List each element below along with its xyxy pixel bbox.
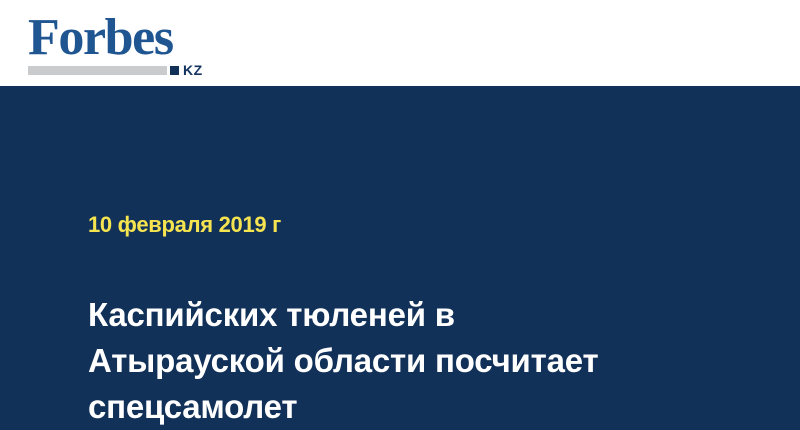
- headline-line: Каспийских тюленей в: [88, 292, 708, 338]
- article-body: 10 февраля 2019 г Каспийских тюленей в А…: [0, 86, 800, 419]
- logo-country-code: KZ: [183, 63, 203, 77]
- logo-wordmark: Forbes: [28, 12, 173, 64]
- headline-line: спецсамолет: [88, 384, 708, 430]
- logo-underline-bar: [28, 66, 167, 75]
- article-headline: Каспийских тюленей в Атырауской области …: [88, 292, 708, 430]
- site-header: Forbes KZ: [0, 0, 800, 86]
- article-card: Forbes KZ 10 февраля 2019 г Каспийских т…: [0, 0, 800, 419]
- headline-line: Атырауской области посчитает: [88, 338, 708, 384]
- logo-square-icon: [170, 66, 179, 75]
- article-date: 10 февраля 2019 г: [88, 212, 281, 238]
- forbes-kz-logo[interactable]: Forbes KZ: [28, 12, 233, 78]
